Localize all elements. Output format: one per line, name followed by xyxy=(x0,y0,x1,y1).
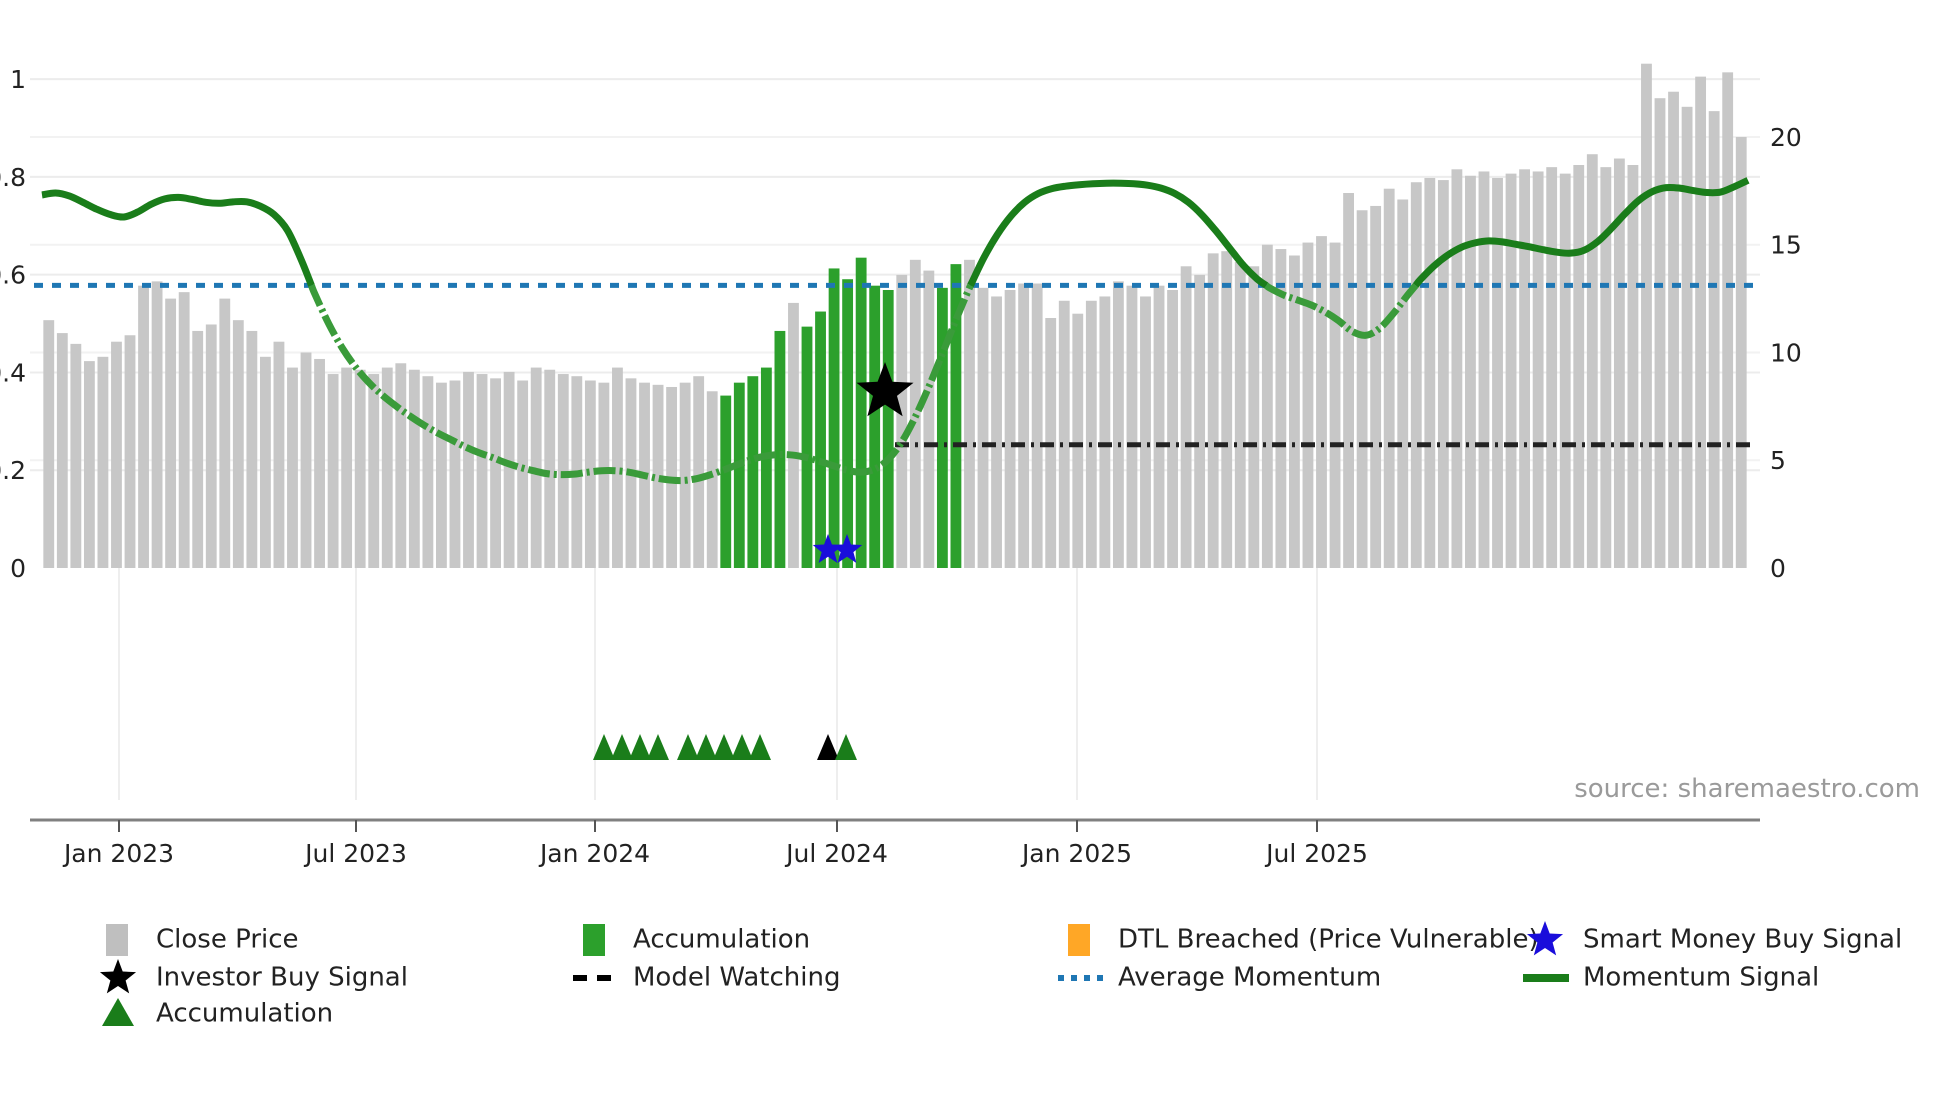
close-price-bar xyxy=(923,271,934,568)
left-axis-tick-2: 0.6 xyxy=(0,261,26,290)
momentum-segment-above-avg xyxy=(42,193,311,285)
close-price-bar xyxy=(1370,206,1381,568)
close-price-bar xyxy=(1465,176,1476,568)
accumulation-bar xyxy=(829,268,840,568)
close-price-bar xyxy=(1262,245,1273,568)
close-price-bar xyxy=(152,281,163,568)
legend-item[interactable]: Investor Buy Signal xyxy=(100,959,408,993)
right-axis-tick-3: 5 xyxy=(1770,446,1786,475)
close-price-bar xyxy=(1099,296,1110,568)
close-price-bar xyxy=(1167,290,1178,568)
close-price-bar xyxy=(1709,111,1720,568)
close-price-bar xyxy=(1573,165,1584,568)
close-price-bar xyxy=(233,320,244,568)
x-tick-label-4: Jan 2025 xyxy=(1020,839,1132,868)
accumulation-triangle-marker xyxy=(593,734,615,760)
accumulation-triangle-marker xyxy=(629,734,651,760)
close-price-bar xyxy=(111,342,122,568)
left-axis-tick-5: 0 xyxy=(10,554,26,583)
close-price-bar xyxy=(707,391,718,568)
close-price-bar xyxy=(436,383,447,568)
accumulation-bar xyxy=(720,396,731,568)
legend-label: Accumulation xyxy=(156,999,333,1029)
accumulation-bar xyxy=(869,286,880,568)
accumulation-bar xyxy=(937,288,948,568)
accumulation-bar xyxy=(883,290,894,568)
close-price-bar xyxy=(1655,98,1666,568)
close-price-bar xyxy=(57,333,68,568)
close-price-bar xyxy=(1533,171,1544,568)
close-price-bar xyxy=(517,381,528,568)
close-price-bar xyxy=(693,376,704,568)
momentum-accumulation-chart: Jan 2023Jul 2023Jan 2024Jul 2024Jan 2025… xyxy=(0,0,1960,1102)
legend-label: Smart Money Buy Signal xyxy=(1583,925,1902,955)
close-price-bar xyxy=(1330,243,1341,568)
accumulation-bar xyxy=(747,376,758,568)
accumulation-bar xyxy=(815,312,826,568)
legend-item[interactable]: Close Price xyxy=(106,924,299,956)
accumulation-bar xyxy=(856,258,867,568)
close-price-bar xyxy=(788,303,799,568)
close-price-bar xyxy=(1303,243,1314,568)
close-price-bar xyxy=(1587,154,1598,568)
x-tick-label-5: Jul 2025 xyxy=(1264,839,1368,868)
close-price-bar xyxy=(1194,275,1205,568)
accumulation-bar xyxy=(802,327,813,568)
legend-label: Average Momentum xyxy=(1118,963,1381,993)
close-price-bar xyxy=(43,320,54,568)
accumulation-bar xyxy=(761,368,772,568)
left-axis-tick-3: 0.4 xyxy=(0,358,26,387)
close-price-bar xyxy=(260,357,271,568)
close-price-bar xyxy=(1736,137,1747,568)
close-price-bar xyxy=(98,357,109,568)
close-price-bar xyxy=(409,370,420,568)
legend-label: Close Price xyxy=(156,925,299,955)
close-price-bar xyxy=(1546,167,1557,568)
close-price-bar xyxy=(301,352,312,568)
close-price-bar xyxy=(1127,286,1138,568)
right-axis-tick-1: 15 xyxy=(1770,231,1802,260)
close-price-bar xyxy=(1506,174,1517,568)
close-price-bar xyxy=(84,361,95,568)
close-price-bar xyxy=(991,296,1002,568)
legend-item[interactable]: Accumulation xyxy=(102,998,333,1029)
right-axis-tick-2: 10 xyxy=(1770,338,1802,367)
close-price-bar xyxy=(1560,174,1571,568)
x-tick-label-0: Jan 2023 xyxy=(62,839,174,868)
close-price-bar xyxy=(368,374,379,568)
close-price-bar xyxy=(1628,165,1639,568)
close-price-bar xyxy=(450,381,461,568)
close-price-bar xyxy=(1519,169,1530,568)
close-price-bar xyxy=(328,374,339,568)
close-price-bar xyxy=(490,378,501,568)
close-price-bar xyxy=(1722,72,1733,568)
close-price-bar xyxy=(1221,251,1232,568)
legend-item[interactable]: DTL Breached (Price Vulnerable) xyxy=(1068,924,1539,956)
accumulation-triangle-marker xyxy=(731,734,753,760)
close-price-bar xyxy=(1181,266,1192,568)
close-price-bar xyxy=(544,370,555,568)
close-price-bar xyxy=(1695,77,1706,568)
investor-triangle-marker xyxy=(817,734,839,760)
close-price-bar xyxy=(1235,262,1246,568)
close-price-bar xyxy=(1248,266,1259,568)
chart-stage: Jan 2023Jul 2023Jan 2024Jul 2024Jan 2025… xyxy=(0,0,1960,1102)
left-axis-tick-4: 0.2 xyxy=(0,456,26,485)
accumulation-bar xyxy=(775,331,786,568)
accumulation-triangle-marker xyxy=(677,734,699,760)
accumulation-triangle-marker xyxy=(713,734,735,760)
close-price-bar xyxy=(1668,92,1679,568)
accumulation-triangle-marker xyxy=(611,734,633,760)
accumulation-triangle-marker xyxy=(749,734,771,760)
legend-item[interactable]: Average Momentum xyxy=(1058,963,1381,993)
close-price-bar xyxy=(1492,178,1503,568)
legend-label: DTL Breached (Price Vulnerable) xyxy=(1118,925,1539,955)
close-price-bar xyxy=(422,376,433,568)
close-price-bar xyxy=(1154,286,1165,568)
x-tick-label-2: Jan 2024 xyxy=(538,839,650,868)
close-price-bar xyxy=(1438,180,1449,568)
close-price-bar xyxy=(1059,301,1070,568)
legend-item[interactable]: Smart Money Buy Signal xyxy=(1527,921,1902,955)
legend-item[interactable]: Momentum Signal xyxy=(1523,963,1819,993)
legend-label: Accumulation xyxy=(633,925,810,955)
right-axis-tick-4: 0 xyxy=(1770,554,1786,583)
close-price-bar xyxy=(246,331,257,568)
close-price-bar xyxy=(680,383,691,568)
close-price-bar xyxy=(896,275,907,568)
close-price-bar xyxy=(598,383,609,568)
close-price-bar xyxy=(274,342,285,568)
close-price-bar xyxy=(1384,189,1395,568)
close-price-bar xyxy=(1357,210,1368,568)
close-price-bar xyxy=(1208,253,1219,568)
close-price-bar xyxy=(70,344,81,568)
close-price-bar xyxy=(1451,169,1462,568)
left-axis-tick-1: 0.8 xyxy=(0,163,26,192)
legend-swatch-square xyxy=(1068,924,1090,956)
close-price-bar xyxy=(1113,281,1124,568)
accumulation-bar xyxy=(734,383,745,568)
close-price-bar xyxy=(463,372,474,568)
accumulation-bar xyxy=(842,279,853,568)
legend-item[interactable]: Accumulation xyxy=(583,924,810,956)
close-price-bar xyxy=(341,368,352,568)
close-price-bar xyxy=(314,359,325,568)
legend-item[interactable]: Model Watching xyxy=(573,963,840,993)
close-price-bars xyxy=(43,64,1746,568)
close-price-bar xyxy=(395,363,406,568)
legend-triangle-icon xyxy=(102,998,134,1026)
close-price-bar xyxy=(1086,301,1097,568)
close-price-bar xyxy=(1411,182,1422,568)
close-price-bar xyxy=(1479,171,1490,568)
legend-swatch-square xyxy=(583,924,605,956)
legend-label: Model Watching xyxy=(633,963,840,993)
close-price-bar xyxy=(1140,296,1151,568)
legend-star-icon xyxy=(100,959,136,993)
left-axis-tick-0: 1 xyxy=(10,65,26,94)
close-price-bar xyxy=(477,374,488,568)
close-price-bar xyxy=(1641,64,1652,568)
close-price-bar xyxy=(138,286,149,568)
close-price-bar xyxy=(504,372,515,568)
close-price-bar xyxy=(287,368,298,568)
close-price-bar xyxy=(1682,107,1693,568)
close-price-bar xyxy=(1005,290,1016,568)
close-price-bar xyxy=(355,370,366,568)
close-price-bar xyxy=(179,292,190,568)
chart-legend: Close PriceAccumulationDTL Breached (Pri… xyxy=(100,921,1902,1029)
close-price-bar xyxy=(978,288,989,568)
accumulation-triangle-markers xyxy=(593,734,857,760)
legend-swatch-square xyxy=(106,924,128,956)
close-price-bar xyxy=(1343,193,1354,568)
x-tick-label-3: Jul 2024 xyxy=(784,839,888,868)
close-price-bar xyxy=(1032,284,1043,568)
close-price-bar xyxy=(219,299,230,568)
close-price-bar xyxy=(192,331,203,568)
x-tick-label-1: Jul 2023 xyxy=(303,839,407,868)
close-price-bar xyxy=(1018,284,1029,568)
close-price-bar xyxy=(206,324,217,568)
close-price-bar xyxy=(125,335,136,568)
close-price-bar xyxy=(165,299,176,568)
legend-label: Momentum Signal xyxy=(1583,963,1819,993)
accumulation-triangle-marker xyxy=(695,734,717,760)
close-price-bar xyxy=(964,260,975,568)
legend-label: Investor Buy Signal xyxy=(156,963,408,993)
right-axis-tick-0: 20 xyxy=(1770,123,1802,152)
close-price-bar xyxy=(558,374,569,568)
accumulation-triangle-marker xyxy=(835,734,857,760)
close-price-bar xyxy=(1424,178,1435,568)
close-price-bar xyxy=(1072,314,1083,568)
source-attribution: source: sharemaestro.com xyxy=(1574,774,1920,804)
accumulation-triangle-marker xyxy=(647,734,669,760)
close-price-bar xyxy=(1397,199,1408,568)
